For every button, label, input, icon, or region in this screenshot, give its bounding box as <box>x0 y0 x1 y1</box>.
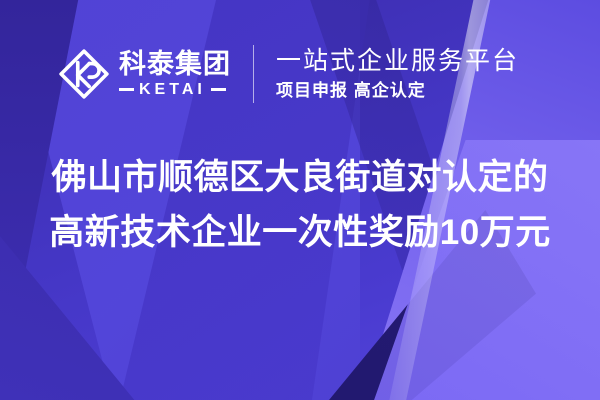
banner-header: 科泰集团 KETAI 一站式企业服务平台 项目申报 高企认定 <box>0 36 600 112</box>
logo-wordmark: 科泰集团 KETAI <box>119 50 231 97</box>
brand-logo: 科泰集团 KETAI <box>58 48 231 100</box>
logo-chinese-name: 科泰集团 <box>119 50 231 78</box>
tagline-primary: 一站式企业服务平台 <box>276 46 519 76</box>
headline-line-2: 高新技术企业一次性奖励10万元 <box>0 205 600 260</box>
tagline-secondary: 项目申报 高企认定 <box>276 80 519 102</box>
logo-english-row: KETAI <box>119 82 231 98</box>
logo-english-name: KETAI <box>139 82 206 98</box>
header-vertical-divider <box>253 45 254 103</box>
ketai-diamond-kp-logo-icon <box>58 48 110 100</box>
logo-dash-right-icon <box>211 88 226 91</box>
promo-banner: 科泰集团 KETAI 一站式企业服务平台 项目申报 高企认定 佛山市顺德区大良街… <box>0 0 600 400</box>
headline-line-1: 佛山市顺德区大良街道对认定的 <box>0 150 600 205</box>
logo-dash-left-icon <box>119 88 134 91</box>
headline-block: 佛山市顺德区大良街道对认定的 高新技术企业一次性奖励10万元 <box>0 150 600 260</box>
brand-tagline: 一站式企业服务平台 项目申报 高企认定 <box>276 46 519 102</box>
